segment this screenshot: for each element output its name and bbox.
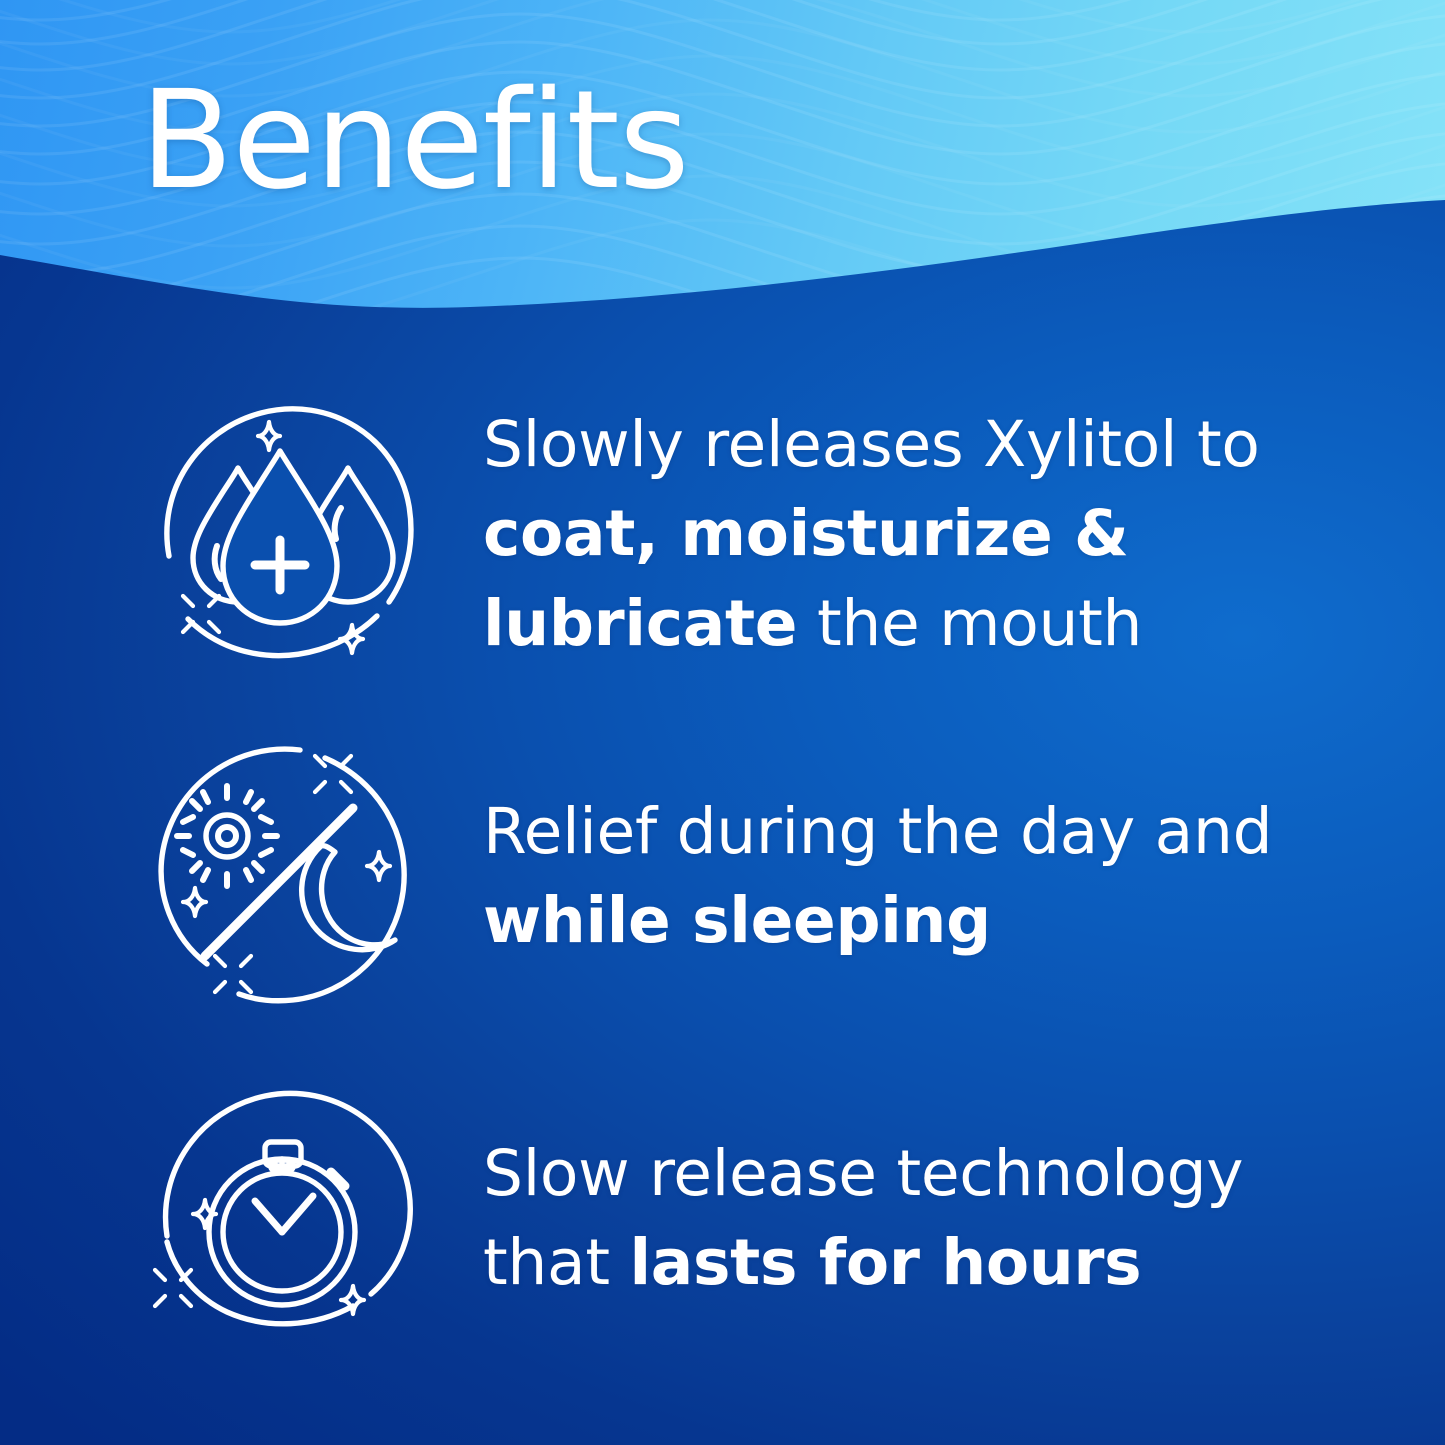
water-droplets-plus-icon	[145, 400, 415, 668]
benefit-text: Slow release technology that lasts for h…	[483, 1129, 1313, 1308]
benefit-item: Slow release technology that lasts for h…	[0, 1084, 1445, 1352]
benefit-item: Relief during the day and while sleeping	[0, 742, 1445, 1010]
sun-moon-day-night-icon	[145, 742, 415, 1010]
benefit-text-part: the mouth	[797, 587, 1142, 660]
stopwatch-icon	[145, 1084, 415, 1352]
benefit-text-bold: while sleeping	[483, 884, 991, 957]
benefit-text: Relief during the day and while sleeping	[483, 787, 1313, 966]
benefit-text-part: Relief during the day and	[483, 795, 1272, 868]
benefit-text-bold: lasts for hours	[629, 1226, 1141, 1299]
benefit-text: Slowly releases Xylitol to coat, moistur…	[483, 400, 1313, 668]
benefits-infographic: Benefits	[0, 0, 1445, 1445]
benefit-item: Slowly releases Xylitol to coat, moistur…	[0, 400, 1445, 668]
benefit-text-part: Slowly releases Xylitol to	[483, 408, 1260, 481]
page-title: Benefits	[140, 73, 689, 209]
